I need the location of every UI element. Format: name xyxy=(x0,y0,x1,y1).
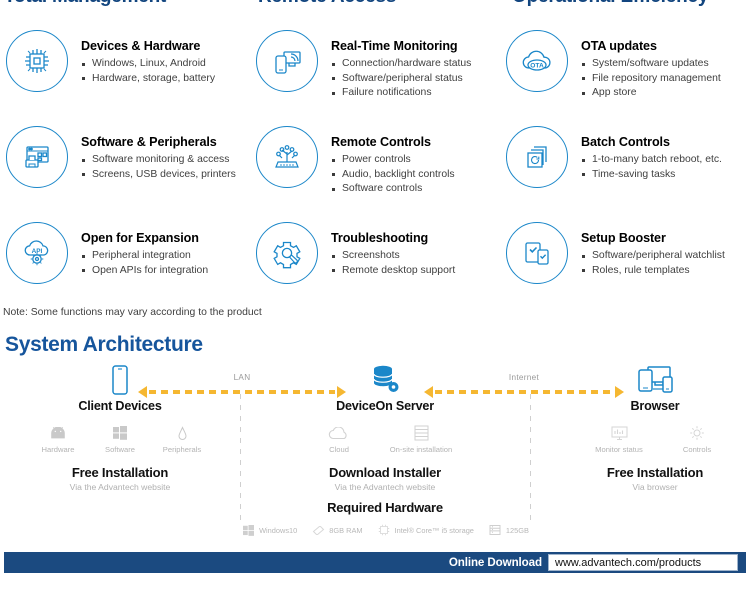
node-title: DeviceOn Server xyxy=(255,399,515,413)
ota-cloud-icon: OTA xyxy=(506,30,568,92)
browser-subicons: Monitor status Controls xyxy=(560,424,750,454)
linux-icon xyxy=(151,424,213,442)
hardware-caption: Intel® Core™ i5 storage xyxy=(395,526,474,535)
hardware-item-windows: Windows10 xyxy=(241,523,297,537)
feature-title: Batch Controls xyxy=(581,135,722,149)
client-subicons: Hardware Software xyxy=(20,424,220,454)
hardware-item-cpu: Intel® Core™ i5 storage xyxy=(377,523,474,537)
subicon-caption: Hardware xyxy=(27,445,89,454)
ram-icon xyxy=(311,523,325,537)
required-hardware-list: Windows10 8GB RAM xyxy=(255,523,515,537)
block-subtitle: Via browser xyxy=(560,482,750,492)
column-heading-operational-efficiency: Operational Efficiency xyxy=(500,0,750,8)
node-title: Client Devices xyxy=(20,399,220,413)
feature-title: Real-Time Monitoring xyxy=(331,39,471,53)
monitor-status-icon xyxy=(577,424,661,442)
server-icon xyxy=(375,424,467,442)
storage-icon xyxy=(488,523,502,537)
feature-bullet: Software monitoring & access xyxy=(81,153,236,168)
subicon-caption: On-site installation xyxy=(375,445,467,454)
node-client-devices: Client Devices Hardware xyxy=(20,362,220,492)
setup-booster-icon xyxy=(506,222,568,284)
feature-title: Software & Peripherals xyxy=(81,135,236,149)
online-download-label: Online Download xyxy=(449,556,542,569)
feature-bullet: Software/peripheral status xyxy=(331,72,471,87)
chip-icon xyxy=(6,30,68,92)
batch-controls-icon xyxy=(506,126,568,188)
system-architecture-title: System Architecture xyxy=(5,333,203,357)
feature-bullet: Hardware, storage, battery xyxy=(81,72,215,87)
feature-bullet: Screenshots xyxy=(331,249,455,264)
feature-title: OTA updates xyxy=(581,39,721,53)
feature-open-for-expansion: API Open for Expansion Peripheral integr… xyxy=(0,220,250,316)
controls-gear-icon xyxy=(661,424,733,442)
required-hardware-title: Required Hardware xyxy=(255,500,515,515)
devices-browser-icon xyxy=(560,362,750,396)
database-gear-icon xyxy=(255,362,515,396)
feature-setup-booster: Setup Booster Software/peripheral watchl… xyxy=(500,220,750,316)
feature-bullet: Screens, USB devices, printers xyxy=(81,168,236,183)
column-heading-total-management: Total Management xyxy=(0,0,250,8)
subicon-caption: Monitor status xyxy=(577,445,661,454)
hardware-caption: 8GB RAM xyxy=(329,526,362,535)
feature-bullet: Open APIs for integration xyxy=(81,264,208,279)
software-peripherals-icon xyxy=(6,126,68,188)
separator-right xyxy=(530,394,531,524)
feature-bullet: Peripheral integration xyxy=(81,249,208,264)
feature-software-peripherals: Software & Peripherals Software monitori… xyxy=(0,124,250,220)
remote-controls-icon xyxy=(256,126,318,188)
subicon-caption: Peripherals xyxy=(151,445,213,454)
hardware-caption: 125GB xyxy=(506,526,529,535)
feature-bullets: Software monitoring & access Screens, US… xyxy=(81,153,236,182)
feature-bullet: Software controls xyxy=(331,182,455,197)
feature-troubleshooting: Troubleshooting Screenshots Remote deskt… xyxy=(250,220,500,316)
subicon-hardware: Hardware xyxy=(27,424,89,454)
feature-title: Remote Controls xyxy=(331,135,455,149)
subicon-software: Software xyxy=(89,424,151,454)
feature-bullet: Connection/hardware status xyxy=(331,57,471,72)
feature-grid: Devices & Hardware Windows, Linux, Andro… xyxy=(0,28,750,316)
feature-devices-hardware: Devices & Hardware Windows, Linux, Andro… xyxy=(0,28,250,124)
hardware-item-ram: 8GB RAM xyxy=(311,523,362,537)
feature-title: Devices & Hardware xyxy=(81,39,215,53)
column-headings: Total Management Remote Access Operation… xyxy=(0,0,750,8)
feature-bullet: Time-saving tasks xyxy=(581,168,722,183)
feature-bullets: Windows, Linux, Android Hardware, storag… xyxy=(81,57,215,86)
feature-bullets: Software/peripheral watchlist Roles, rul… xyxy=(581,249,725,278)
feature-title: Setup Booster xyxy=(581,231,725,245)
feature-bullets: System/software updates File repository … xyxy=(581,57,721,101)
feature-bullet: Power controls xyxy=(331,153,455,168)
subicon-cloud: Cloud xyxy=(303,424,375,454)
node-title: Browser xyxy=(560,399,750,413)
feature-bullet: Remote desktop support xyxy=(331,264,455,279)
hardware-item-storage: 125GB xyxy=(488,523,529,537)
block-subtitle: Via the Advantech website xyxy=(20,482,220,492)
subicon-caption: Software xyxy=(89,445,151,454)
feature-bullet: Roles, rule templates xyxy=(581,264,725,279)
subicon-monitor-status: Monitor status xyxy=(577,424,661,454)
feature-title: Open for Expansion xyxy=(81,231,208,245)
feature-bullets: Peripheral integration Open APIs for int… xyxy=(81,249,208,278)
block-title: Free Installation xyxy=(20,465,220,480)
download-url: www.advantech.com/products xyxy=(555,557,701,569)
feature-ota-updates: OTA OTA updates System/software updates … xyxy=(500,28,750,124)
server-subicons: Cloud On-site installation xyxy=(255,424,515,454)
android-icon xyxy=(27,424,89,442)
feature-bullet: Failure notifications xyxy=(331,86,471,101)
download-url-box[interactable]: www.advantech.com/products xyxy=(548,554,738,571)
hardware-caption: Windows10 xyxy=(259,526,297,535)
gear-wrench-icon xyxy=(256,222,318,284)
subicon-caption: Cloud xyxy=(303,445,375,454)
block-title: Free Installation xyxy=(560,465,750,480)
feature-bullets: 1-to-many batch reboot, etc. Time-saving… xyxy=(581,153,722,182)
node-browser: Browser Monitor status xyxy=(560,362,750,492)
cpu-icon xyxy=(377,523,391,537)
monitoring-icon xyxy=(256,30,318,92)
feature-bullet: File repository management xyxy=(581,72,721,87)
feature-bullet: Software/peripheral watchlist xyxy=(581,249,725,264)
subicon-peripherals: Peripherals xyxy=(151,424,213,454)
feature-bullet: 1-to-many batch reboot, etc. xyxy=(581,153,722,168)
api-cloud-icon: API xyxy=(6,222,68,284)
node-deviceon-server: DeviceOn Server Cloud xyxy=(255,362,515,537)
windows-icon xyxy=(89,424,151,442)
architecture-diagram: LAN Internet Client Devices xyxy=(0,362,750,537)
block-subtitle: Via the Advantech website xyxy=(255,482,515,492)
feature-remote-controls: Remote Controls Power controls Audio, ba… xyxy=(250,124,500,220)
feature-bullets: Power controls Audio, backlight controls… xyxy=(331,153,455,197)
feature-bullet: App store xyxy=(581,86,721,101)
feature-bullets: Connection/hardware status Software/peri… xyxy=(331,57,471,101)
brochure-page: Total Management Remote Access Operation… xyxy=(0,0,750,591)
subicon-onsite: On-site installation xyxy=(375,424,467,454)
feature-bullet: Windows, Linux, Android xyxy=(81,57,215,72)
phone-icon xyxy=(20,362,220,396)
feature-bullet: Audio, backlight controls xyxy=(331,168,455,183)
feature-real-time-monitoring: Real-Time Monitoring Connection/hardware… xyxy=(250,28,500,124)
svg-text:OTA: OTA xyxy=(530,62,544,69)
feature-title: Troubleshooting xyxy=(331,231,455,245)
column-heading-remote-access: Remote Access xyxy=(250,0,500,8)
separator-left xyxy=(240,394,241,524)
footer-bar: Online Download www.advantech.com/produc… xyxy=(4,552,746,573)
feature-batch-controls: Batch Controls 1-to-many batch reboot, e… xyxy=(500,124,750,220)
block-title: Download Installer xyxy=(255,465,515,480)
subicon-controls: Controls xyxy=(661,424,733,454)
windows-icon xyxy=(241,523,255,537)
cloud-icon xyxy=(303,424,375,442)
feature-bullets: Screenshots Remote desktop support xyxy=(331,249,455,278)
subicon-caption: Controls xyxy=(661,445,733,454)
product-note: Note: Some functions may vary according … xyxy=(3,307,262,318)
feature-bullet: System/software updates xyxy=(581,57,721,72)
